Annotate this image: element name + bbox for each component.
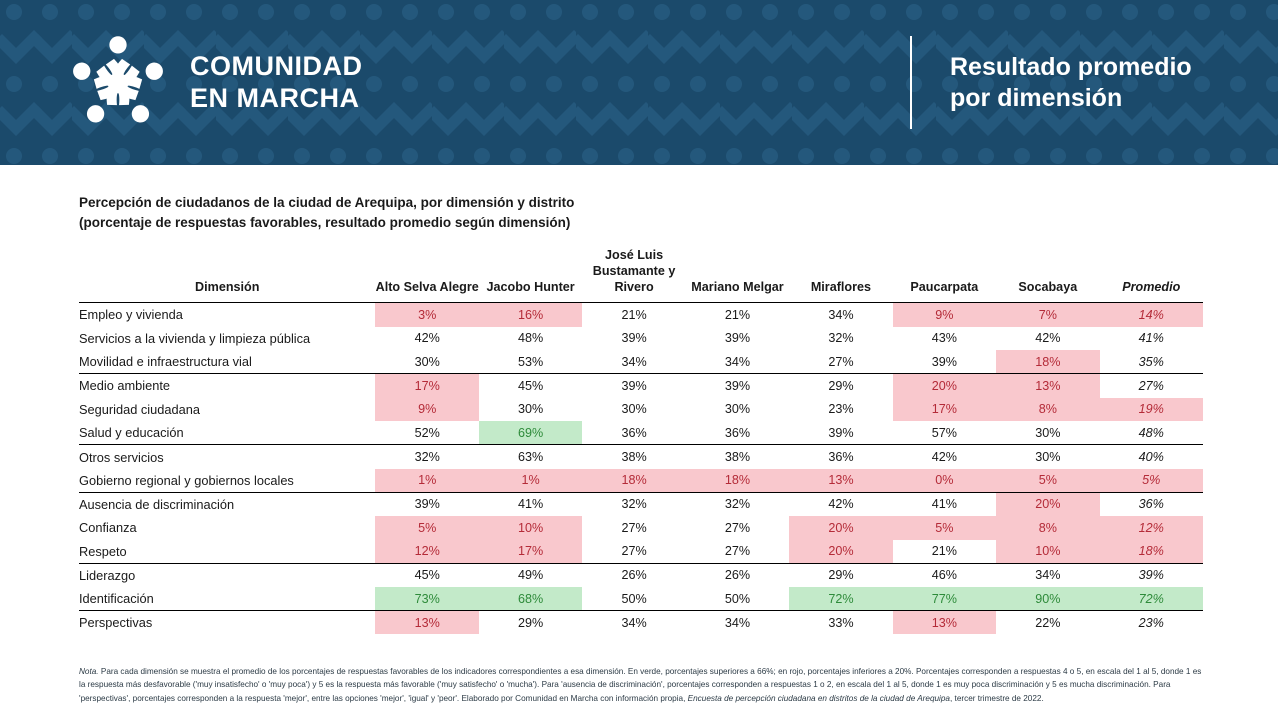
col-header-district: José Luis Bustamante y Rivero <box>582 247 685 303</box>
row-label-dimension: Salud y educación <box>79 421 375 445</box>
table-row: Empleo y vivienda3%16%21%21%34%9%7%14% <box>79 303 1203 327</box>
cell-value: 30% <box>996 445 1099 469</box>
cell-value: 36% <box>789 445 892 469</box>
cell-value: 30% <box>479 398 582 422</box>
dimension-results-table: DimensiónAlto Selva AlegreJacobo HunterJ… <box>79 247 1203 634</box>
cell-promedio: 12% <box>1100 516 1203 540</box>
cell-value: 39% <box>789 421 892 445</box>
cell-value: 34% <box>686 611 789 635</box>
cell-value: 52% <box>375 421 478 445</box>
cell-value: 26% <box>686 563 789 587</box>
cell-value: 10% <box>479 516 582 540</box>
content-sheet: Percepción de ciudadanos de la ciudad de… <box>0 165 1278 717</box>
row-label-dimension: Medio ambiente <box>79 374 375 398</box>
cell-value: 36% <box>582 421 685 445</box>
col-header-promedio: Promedio <box>1100 247 1203 303</box>
cell-value: 20% <box>893 374 996 398</box>
row-label-dimension: Gobierno regional y gobiernos locales <box>79 469 375 493</box>
row-label-dimension: Otros servicios <box>79 445 375 469</box>
row-label-dimension: Empleo y vivienda <box>79 303 375 327</box>
cell-value: 10% <box>996 540 1099 564</box>
cell-value: 13% <box>375 611 478 635</box>
cell-promedio: 35% <box>1100 350 1203 374</box>
banner-title: Resultado promedio por dimensión <box>950 52 1250 115</box>
cell-value: 18% <box>996 350 1099 374</box>
cell-value: 49% <box>479 563 582 587</box>
cell-value: 27% <box>686 516 789 540</box>
cell-value: 39% <box>375 492 478 516</box>
cell-value: 13% <box>996 374 1099 398</box>
cell-value: 48% <box>479 327 582 351</box>
brand-line-1: COMUNIDAD <box>190 51 363 83</box>
cell-value: 53% <box>479 350 582 374</box>
row-label-dimension: Ausencia de discriminación <box>79 492 375 516</box>
footnote-label: Nota. <box>79 667 99 676</box>
cell-value: 36% <box>686 421 789 445</box>
cell-value: 16% <box>479 303 582 327</box>
cell-value: 21% <box>582 303 685 327</box>
cell-value: 30% <box>375 350 478 374</box>
people-circle-logo-icon <box>62 31 174 135</box>
cell-value: 41% <box>893 492 996 516</box>
cell-value: 5% <box>893 516 996 540</box>
col-header-district: Socabaya <box>996 247 1099 303</box>
row-label-dimension: Identificación <box>79 587 375 611</box>
table-row: Identificación73%68%50%50%72%77%90%72% <box>79 587 1203 611</box>
row-label-dimension: Movilidad e infraestructura vial <box>79 350 375 374</box>
table-row: Seguridad ciudadana9%30%30%30%23%17%8%19… <box>79 398 1203 422</box>
cell-value: 17% <box>375 374 478 398</box>
cell-value: 20% <box>789 540 892 564</box>
row-label-dimension: Liderazgo <box>79 563 375 587</box>
cell-value: 27% <box>789 350 892 374</box>
col-header-district: Paucarpata <box>893 247 996 303</box>
cell-value: 68% <box>479 587 582 611</box>
table-header: DimensiónAlto Selva AlegreJacobo HunterJ… <box>79 247 1203 303</box>
cell-value: 9% <box>375 398 478 422</box>
table-row: Otros servicios32%63%38%38%36%42%30%40% <box>79 445 1203 469</box>
table-row: Salud y educación52%69%36%36%39%57%30%48… <box>79 421 1203 445</box>
cell-promedio: 72% <box>1100 587 1203 611</box>
cell-value: 7% <box>996 303 1099 327</box>
brand-wordmark: COMUNIDAD EN MARCHA <box>190 51 363 115</box>
cell-value: 39% <box>582 374 685 398</box>
cell-promedio: 41% <box>1100 327 1203 351</box>
col-header-dimension: Dimensión <box>79 247 375 303</box>
cell-value: 42% <box>375 327 478 351</box>
cell-promedio: 19% <box>1100 398 1203 422</box>
row-label-dimension: Respeto <box>79 540 375 564</box>
cell-value: 32% <box>789 327 892 351</box>
cell-value: 50% <box>582 587 685 611</box>
footnote-source-title: Encuesta de percepción ciudadana en dist… <box>688 694 950 703</box>
cell-value: 29% <box>789 374 892 398</box>
cell-value: 34% <box>582 611 685 635</box>
cell-value: 1% <box>479 469 582 493</box>
cell-value: 34% <box>996 563 1099 587</box>
cell-value: 32% <box>375 445 478 469</box>
cell-value: 39% <box>582 327 685 351</box>
cell-value: 43% <box>893 327 996 351</box>
cell-value: 21% <box>893 540 996 564</box>
cell-value: 30% <box>996 421 1099 445</box>
cell-value: 9% <box>893 303 996 327</box>
cell-value: 29% <box>789 563 892 587</box>
cell-value: 26% <box>582 563 685 587</box>
table-row: Perspectivas13%29%34%34%33%13%22%23% <box>79 611 1203 635</box>
col-header-district: Alto Selva Alegre <box>375 247 478 303</box>
cell-value: 69% <box>479 421 582 445</box>
table-row: Servicios a la vivienda y limpieza públi… <box>79 327 1203 351</box>
cell-promedio: 5% <box>1100 469 1203 493</box>
cell-value: 12% <box>375 540 478 564</box>
cell-value: 90% <box>996 587 1099 611</box>
cell-value: 27% <box>686 540 789 564</box>
cell-value: 3% <box>375 303 478 327</box>
row-label-dimension: Confianza <box>79 516 375 540</box>
cell-value: 18% <box>686 469 789 493</box>
table-caption-line-1: Percepción de ciudadanos de la ciudad de… <box>79 193 779 213</box>
cell-value: 39% <box>686 374 789 398</box>
cell-value: 20% <box>996 492 1099 516</box>
cell-value: 17% <box>893 398 996 422</box>
row-label-dimension: Perspectivas <box>79 611 375 635</box>
cell-value: 21% <box>686 303 789 327</box>
table-row: Confianza5%10%27%27%20%5%8%12% <box>79 516 1203 540</box>
cell-promedio: 14% <box>1100 303 1203 327</box>
cell-value: 42% <box>789 492 892 516</box>
cell-value: 18% <box>582 469 685 493</box>
cell-value: 34% <box>686 350 789 374</box>
row-label-dimension: Seguridad ciudadana <box>79 398 375 422</box>
col-header-district: Jacobo Hunter <box>479 247 582 303</box>
cell-value: 42% <box>996 327 1099 351</box>
cell-value: 38% <box>582 445 685 469</box>
cell-value: 30% <box>582 398 685 422</box>
brand-logo: COMUNIDAD EN MARCHA <box>62 31 363 135</box>
cell-value: 22% <box>996 611 1099 635</box>
table-footnote: Nota. Para cada dimensión se muestra el … <box>79 665 1203 705</box>
cell-value: 72% <box>789 587 892 611</box>
cell-value: 34% <box>789 303 892 327</box>
cell-value: 45% <box>375 563 478 587</box>
cell-value: 8% <box>996 398 1099 422</box>
cell-value: 32% <box>686 492 789 516</box>
cell-value: 5% <box>375 516 478 540</box>
banner-title-line-2: por dimensión <box>950 83 1250 114</box>
cell-value: 17% <box>479 540 582 564</box>
table-row: Gobierno regional y gobiernos locales1%1… <box>79 469 1203 493</box>
cell-value: 23% <box>789 398 892 422</box>
cell-value: 5% <box>996 469 1099 493</box>
cell-promedio: 40% <box>1100 445 1203 469</box>
cell-value: 73% <box>375 587 478 611</box>
cell-value: 50% <box>686 587 789 611</box>
cell-value: 13% <box>893 611 996 635</box>
brand-line-2: EN MARCHA <box>190 83 363 115</box>
col-header-district: Miraflores <box>789 247 892 303</box>
cell-value: 39% <box>686 327 789 351</box>
cell-value: 29% <box>479 611 582 635</box>
cell-value: 45% <box>479 374 582 398</box>
table-row: Ausencia de discriminación39%41%32%32%42… <box>79 492 1203 516</box>
cell-promedio: 48% <box>1100 421 1203 445</box>
cell-promedio: 27% <box>1100 374 1203 398</box>
table-row: Movilidad e infraestructura vial30%53%34… <box>79 350 1203 374</box>
cell-value: 34% <box>582 350 685 374</box>
cell-promedio: 18% <box>1100 540 1203 564</box>
table-body: Empleo y vivienda3%16%21%21%34%9%7%14%Se… <box>79 303 1203 635</box>
footnote-text-2: , tercer trimestre de 2022. <box>950 694 1044 703</box>
table-header-row: DimensiónAlto Selva AlegreJacobo HunterJ… <box>79 247 1203 303</box>
cell-value: 63% <box>479 445 582 469</box>
cell-value: 57% <box>893 421 996 445</box>
table-row: Medio ambiente17%45%39%39%29%20%13%27% <box>79 374 1203 398</box>
cell-value: 20% <box>789 516 892 540</box>
table-row: Liderazgo45%49%26%26%29%46%34%39% <box>79 563 1203 587</box>
cell-value: 27% <box>582 540 685 564</box>
cell-promedio: 39% <box>1100 563 1203 587</box>
cell-value: 8% <box>996 516 1099 540</box>
row-label-dimension: Servicios a la vivienda y limpieza públi… <box>79 327 375 351</box>
cell-value: 0% <box>893 469 996 493</box>
title-divider <box>910 36 912 129</box>
table-caption-line-2: (porcentaje de respuestas favorables, re… <box>79 213 779 233</box>
cell-value: 77% <box>893 587 996 611</box>
cell-value: 13% <box>789 469 892 493</box>
cell-promedio: 36% <box>1100 492 1203 516</box>
cell-value: 38% <box>686 445 789 469</box>
cell-value: 27% <box>582 516 685 540</box>
cell-value: 1% <box>375 469 478 493</box>
cell-value: 41% <box>479 492 582 516</box>
table-row: Respeto12%17%27%27%20%21%10%18% <box>79 540 1203 564</box>
cell-value: 42% <box>893 445 996 469</box>
page-header-banner: COMUNIDAD EN MARCHA Resultado promedio p… <box>0 0 1278 165</box>
cell-value: 32% <box>582 492 685 516</box>
cell-value: 39% <box>893 350 996 374</box>
cell-promedio: 23% <box>1100 611 1203 635</box>
col-header-district: Mariano Melgar <box>686 247 789 303</box>
banner-title-line-1: Resultado promedio <box>950 52 1250 83</box>
cell-value: 46% <box>893 563 996 587</box>
table-caption: Percepción de ciudadanos de la ciudad de… <box>79 193 779 234</box>
cell-value: 33% <box>789 611 892 635</box>
cell-value: 30% <box>686 398 789 422</box>
